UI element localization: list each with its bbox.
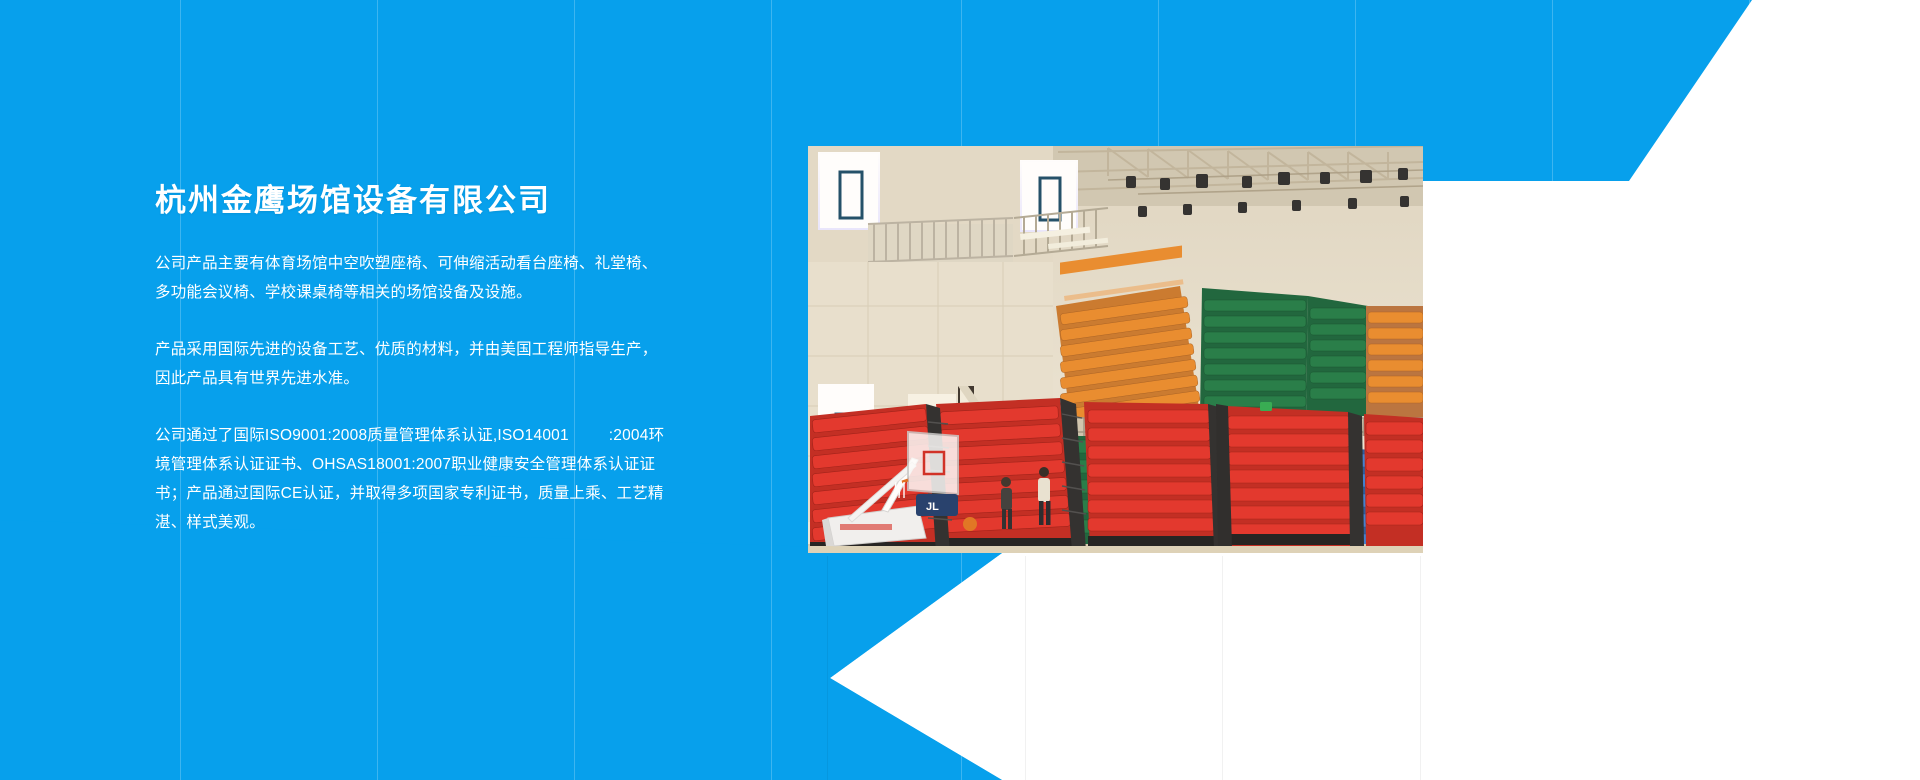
- banner-stage: 杭州金鹰场馆设备有限公司 公司产品主要有体育场馆中空吹塑座椅、可伸缩活动看台座椅…: [0, 0, 1920, 780]
- cert-text-part-1: 公司通过了国际ISO9001:2008质量管理体系认证,ISO14001: [155, 427, 569, 444]
- intro-paragraph-products: 公司产品主要有体育场馆中空吹塑座椅、可伸缩活动看台座椅、礼堂椅、多功能会议椅、学…: [155, 249, 667, 307]
- intro-paragraph-quality: 产品采用国际先进的设备工艺、优质的材料，并由美国工程师指导生产，因此产品具有世界…: [155, 335, 667, 393]
- gymnasium-photo-illustration: JL: [808, 146, 1423, 553]
- banner-text-block: 杭州金鹰场馆设备有限公司 公司产品主要有体育场馆中空吹塑座椅、可伸缩活动看台座椅…: [155, 182, 667, 537]
- page-title: 杭州金鹰场馆设备有限公司: [155, 182, 667, 219]
- intro-paragraph-certification: 公司通过了国际ISO9001:2008质量管理体系认证,ISO14001:200…: [155, 421, 667, 537]
- gymnasium-photo: JL: [808, 146, 1423, 553]
- blue-arrow-wedge: [0, 520, 1100, 780]
